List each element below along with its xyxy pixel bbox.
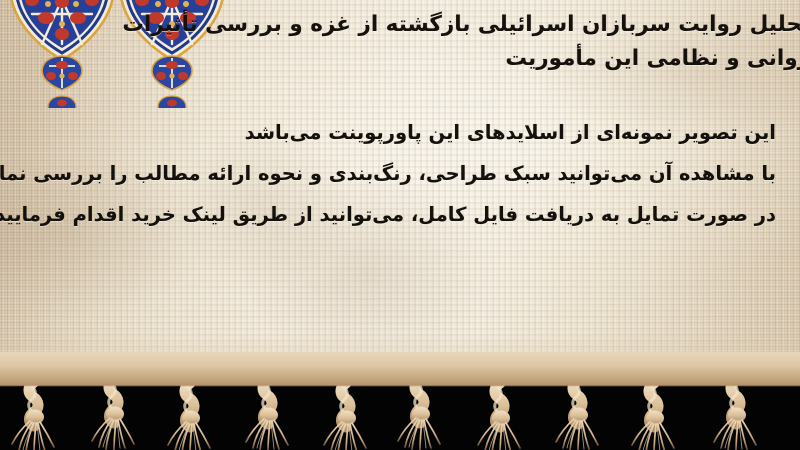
presentation-slide: تحلیل روایت سربازان اسرائیلی بازگشته از … xyxy=(0,0,800,450)
slide-title: تحلیل روایت سربازان اسرائیلی بازگشته از … xyxy=(50,8,800,76)
slide-text-layer: تحلیل روایت سربازان اسرائیلی بازگشته از … xyxy=(0,0,800,378)
body-line-3: در صورت تمایل به دریافت فایل کامل، می‌تو… xyxy=(24,194,776,235)
fringe-selvedge-cord xyxy=(0,352,800,386)
title-line-1: تحلیل روایت سربازان اسرائیلی بازگشته از … xyxy=(50,8,800,42)
body-line-2: با مشاهده آن می‌توانید سبک طراحی، رنگ‌بن… xyxy=(24,153,776,194)
carpet-fringe xyxy=(0,352,800,450)
title-line-2: روانی و نظامی این مأموریت xyxy=(50,42,800,76)
body-line-1: این تصویر نمونه‌ای از اسلایدهای این پاور… xyxy=(24,112,776,153)
slide-body: این تصویر نمونه‌ای از اسلایدهای این پاور… xyxy=(24,112,776,235)
tassel-row xyxy=(12,379,756,450)
